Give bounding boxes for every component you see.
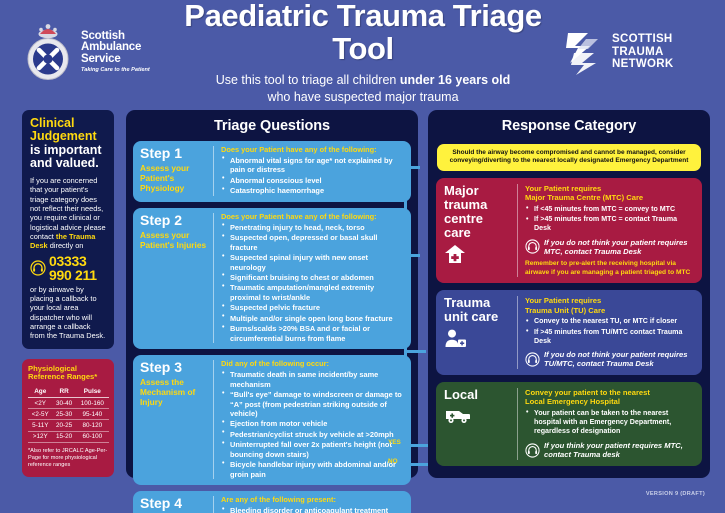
step-2-number: Step 2 [140,213,208,227]
phone-line-2: 990 211 [49,267,97,283]
yes-label: YES [388,439,401,446]
tu-italic-text: If you do not think your patient require… [544,350,696,369]
page-title: Paediatric Trauma Triage Tool [162,0,564,65]
prr-pulse: 100-160 [76,398,109,409]
step-card-1[interactable]: Step 1 Assess your Patient's Physiology … [133,141,411,202]
scottish-trauma-network-logo: SCOTTISH TRAUMA NETWORK [564,29,709,75]
subtitle-bold: under 16 years old [400,73,510,87]
headset-icon [525,443,540,458]
list-item: Pedestrian/cyclist struck by vehicle at … [221,430,405,439]
step-4-number: Step 4 [140,496,208,510]
step-3-list: Traumatic death in same incident/by same… [221,370,405,479]
list-item: If >45 minutes from TU/MTC contact Traum… [525,328,696,346]
local-content: Convey your patient to the nearest Local… [518,388,696,460]
subtitle-line-2: who have suspected major trauma [162,90,564,104]
hospital-icon [444,244,512,269]
prr-age: >12Y [28,431,52,442]
poster-root: Scottish Ambulance Service Taking Care t… [0,0,725,513]
prr-col-age: Age [28,387,52,398]
list-item: If >45 minutes from MTC = contact Trauma… [525,215,696,233]
list-item: “Bull's eye” damage to windscreen or dam… [221,390,405,418]
connector-step4-out [404,444,428,447]
local-title: Local [444,388,512,402]
cj-title-line-1: Clinical [30,116,74,130]
list-item: Penetrating injury to head, neck, torso [221,223,405,232]
sas-line-3: Service [81,54,150,66]
mtc-italic-text: If you do not think your patient require… [544,238,696,257]
prr-age: <2-5Y [28,409,52,420]
sas-crest-icon [22,21,74,83]
local-lead-2: Local Emergency Hospital [525,397,620,406]
stn-wordmark: SCOTTISH TRAUMA NETWORK [612,33,674,72]
prr-table: Age RR Pulse <2Y 30-40 100-160 <2-5Y [28,387,109,443]
step-1-list: Abnormal vital signs for age* not explai… [221,156,405,196]
version-label: VERSION 9 (DRAFT) [646,491,705,497]
mtc-content: Your Patient requires Major Trauma Centr… [518,184,696,277]
tu-lead-2: Trauma Unit (TU) Care [525,306,605,315]
headset-icon [525,239,540,254]
prr-col-pulse: Pulse [76,387,109,398]
tu-content: Your Patient requires Trauma Unit (TU) C… [518,296,696,369]
sas-tagline: Taking Care to the Patient [81,68,150,74]
step-2-list: Penetrating injury to head, neck, torso … [221,223,405,344]
local-label: Local [444,388,518,460]
connector-step1-out [404,166,420,169]
step-4-lead: Are any of the following present: [221,496,405,505]
stn-line-1: SCOTTISH [612,33,674,46]
step-1-content: Does your Patient have any of the follow… [214,146,405,196]
triage-questions-heading: Triage Questions [126,110,418,141]
response-category-panel: Response Category Should the airway beco… [428,110,710,478]
mtc-label: Major trauma centre care [444,184,518,277]
sas-wordmark: Scottish Ambulance Service Taking Care t… [81,31,150,74]
list-item: Ejection from motor vehicle [221,419,405,428]
local-lead-1: Convey your patient to the nearest [525,388,650,397]
list-item: Burns/scalds >20% BSA and or facial or c… [221,324,405,343]
prr-pulse: 60-100 [76,431,109,442]
local-lead: Convey your patient to the nearest Local… [525,388,696,407]
headset-icon [525,352,540,367]
step-3-subtitle: Assess the Mechanism of Injury [140,377,208,407]
response-card-mtc[interactable]: Major trauma centre care Your Patient re… [436,178,702,283]
table-row: 5-11Y 20-25 80-120 [28,420,109,431]
mtc-lead-1: Your Patient requires [525,184,601,193]
step-3-content: Did any of the following occur: Traumati… [214,360,405,479]
step-1-lead: Does your Patient have any of the follow… [221,146,405,155]
step-card-2[interactable]: Step 2 Assess your Patient's Injuries Do… [133,208,411,350]
prr-rr: 15-20 [52,431,75,442]
airway-warning-note: Should the airway become compromised and… [437,144,701,171]
step-1-label: Step 1 Assess your Patient's Physiology [140,146,214,196]
step-2-subtitle: Assess your Patient's Injuries [140,230,208,250]
clinical-judgement-body: If you are concerned that your patient's… [30,176,107,251]
tu-label: Trauma unit care [444,296,518,369]
physiological-reference-ranges-card: Physiological Reference Ranges* Age RR P… [22,359,114,477]
cj-title-line-3: is important [30,143,102,157]
list-item: Abnormal vital signs for age* not explai… [221,156,405,175]
step-4-list: Bleeding disorder or anticoagulant treat… [221,506,405,513]
list-item: Abnormal conscious level [221,176,405,185]
step-card-4[interactable]: Step 4 Special Considerations Are any of… [133,491,411,513]
response-card-local[interactable]: Local [436,382,702,466]
mtc-title: Major trauma centre care [444,184,512,240]
table-row: >12Y 15-20 60-100 [28,431,109,442]
prr-rr: 30-40 [52,398,75,409]
mtc-remember: Remember to pre-alert the receiving hosp… [525,260,696,277]
subtitle-line-1: Use this tool to triage all children und… [162,73,564,87]
step-3-label: Step 3 Assess the Mechanism of Injury [140,360,214,479]
list-item: Convey to the nearest TU, or MTC if clos… [525,317,696,326]
mtc-italic-note: If you do not think your patient require… [525,238,696,257]
list-item: Significant bruising to chest or abdomen [221,273,405,282]
connector-step4-no [404,463,428,466]
prr-pulse: 80-120 [76,420,109,431]
sidebar: Clinical Judgement is important and valu… [22,110,114,477]
prr-col-rr: RR [52,387,75,398]
list-item: Bleeding disorder or anticoagulant treat… [221,506,405,513]
poster-header: Scottish Ambulance Service Taking Care t… [0,0,725,104]
response-category-heading: Response Category [428,110,710,141]
prr-rr: 20-25 [52,420,75,431]
stn-line-3: NETWORK [612,58,674,71]
mtc-lead: Your Patient requires Major Trauma Centr… [525,184,696,203]
ambulance-icon [444,406,512,429]
connector-step2-out [404,254,420,257]
headset-icon [30,260,46,276]
table-row: <2Y 30-40 100-160 [28,398,109,409]
list-item: Traumatic death in same incident/by same… [221,370,405,389]
step-4-label: Step 4 Special Considerations [140,496,214,513]
phone-number: 03333 990 211 [49,254,97,282]
prr-footnote: *Also refer to JRCALC Age-Per-Page for m… [28,448,109,470]
mtc-lead-2: Major Trauma Centre (MTC) Care [525,193,643,202]
stn-chevron-icon [564,29,604,75]
step-2-lead: Does your Patient have any of the follow… [221,213,405,222]
prr-age: 5-11Y [28,420,52,431]
tu-lead: Your Patient requires Trauma Unit (TU) C… [525,296,696,315]
step-card-3[interactable]: Step 3 Assess the Mechanism of Injury Di… [133,355,411,485]
connector-spine [404,166,407,466]
step-2-content: Does your Patient have any of the follow… [214,213,405,344]
step-3-lead: Did any of the following occur: [221,360,405,369]
step-2-label: Step 2 Assess your Patient's Injuries [140,213,214,344]
prr-header-row: Age RR Pulse [28,387,109,398]
list-item: Suspected open, depressed or basal skull… [221,233,405,252]
step-1-number: Step 1 [140,146,208,160]
cj-title-line-4: and valued. [30,156,99,170]
local-italic-text: If you think your patient requires MTC, … [544,441,696,460]
triage-questions-panel: Triage Questions Step 1 Assess your Pati… [126,110,418,478]
title-block: Paediatric Trauma Triage Tool Use this t… [162,0,564,103]
cj-body-after: directly on [48,241,84,250]
list-item: Traumatic amputation/mangled extremity p… [221,283,405,302]
subtitle-prefix: Use this tool to triage all children [216,73,400,87]
no-label: NO [388,458,398,465]
cj-body-tail: or by airwave by placing a callback to y… [30,285,107,341]
list-item: Bicycle handlebar injury with abdominal … [221,460,405,479]
list-item: Suspected spinal injury with new onset n… [221,253,405,272]
step-3-number: Step 3 [140,360,208,374]
list-item: Uninterrupted fall over 2x patient's hei… [221,440,405,459]
list-item: Multiple and/or single open long bone fr… [221,314,405,323]
poster-body: Clinical Judgement is important and valu… [0,104,725,489]
stn-line-2: TRAUMA [612,46,674,59]
prr-pulse: 95-140 [76,409,109,420]
list-item: Suspected pelvic fracture [221,303,405,312]
patient-icon [444,328,512,353]
cj-title-line-2: Judgement [30,129,97,143]
step-4-content: Are any of the following present: Bleedi… [214,496,405,513]
prr-age: <2Y [28,398,52,409]
prr-title: Physiological Reference Ranges* [28,365,109,382]
local-list: Your patient can be taken to the nearest… [525,409,696,437]
local-italic-note: If you think your patient requires MTC, … [525,441,696,460]
tu-title: Trauma unit care [444,296,512,324]
mtc-list: If <45 minutes from MTC = convey to MTC … [525,205,696,234]
tu-italic-note: If you do not think your patient require… [525,350,696,369]
list-item: Catastrophic haemorrhage [221,186,405,195]
list-item: Your patient can be taken to the nearest… [525,409,696,437]
response-card-tu[interactable]: Trauma unit care Your Patient requir [436,290,702,375]
clinical-judgement-card: Clinical Judgement is important and valu… [22,110,114,349]
trauma-desk-phone[interactable]: 03333 990 211 [30,254,107,282]
tu-lead-1: Your Patient requires [525,296,601,305]
table-row: <2-5Y 25-30 95-140 [28,409,109,420]
tu-list: Convey to the nearest TU, or MTC if clos… [525,317,696,346]
list-item: If <45 minutes from MTC = convey to MTC [525,205,696,214]
connector-step3-out [404,350,426,353]
prr-rr: 25-30 [52,409,75,420]
scottish-ambulance-service-logo: Scottish Ambulance Service Taking Care t… [22,21,172,83]
clinical-judgement-title: Clinical Judgement is important and valu… [30,117,107,170]
step-1-subtitle: Assess your Patient's Physiology [140,163,208,193]
